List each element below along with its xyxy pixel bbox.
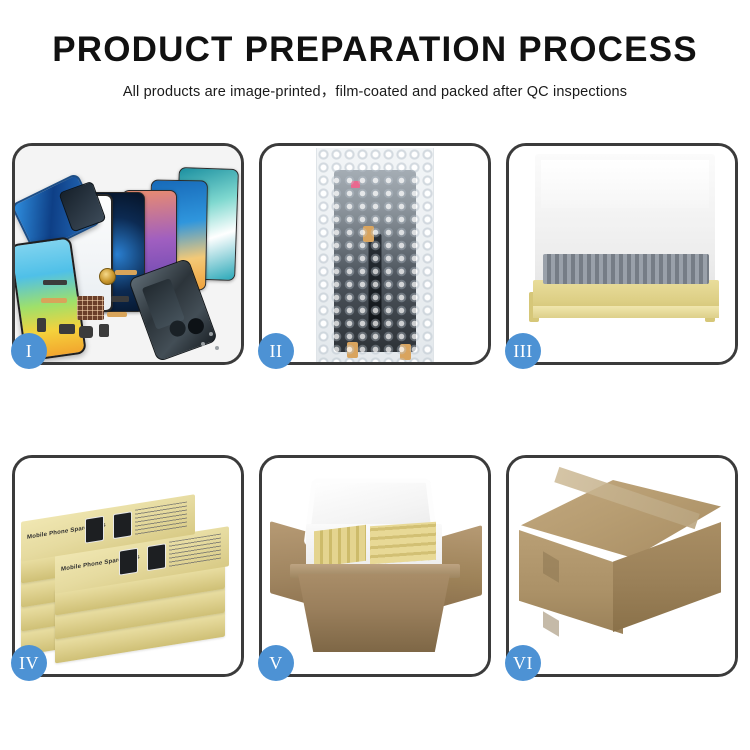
process-step-4: Mobile Phone Spare Parts Mobile Phone Sp… (12, 455, 244, 677)
panel-bubble-wrapped-lcd (262, 146, 488, 362)
box-screen-print-b (147, 543, 166, 571)
part-strip-a (43, 280, 67, 285)
page-header: PRODUCT PREPARATION PROCESS All products… (0, 0, 750, 101)
panel-sealed-carton (509, 458, 735, 674)
lcd-connector-tab-c (400, 344, 411, 360)
lcd-connector-tab-b (347, 342, 358, 358)
panel-open-inner-box (509, 146, 735, 362)
step-badge-3: III (505, 333, 541, 369)
flex-cable-b (115, 270, 137, 275)
step-badge-2: II (258, 333, 294, 369)
product-preparation-page: PRODUCT PREPARATION PROCESS All products… (0, 0, 750, 750)
part-strip-c (37, 318, 46, 332)
screw-c (215, 346, 219, 350)
step-badge-4: IV (11, 645, 47, 681)
process-step-3: III (506, 143, 738, 365)
process-step-1: I (12, 143, 244, 365)
yellow-box-front-wall (533, 306, 719, 318)
process-step-grid: I II (12, 143, 738, 713)
bubble-wrap-bag (316, 148, 434, 362)
ic-chip-icon (77, 296, 104, 320)
part-strip-f (111, 296, 129, 302)
process-step-5: V (259, 455, 491, 677)
step-badge-6: VI (505, 645, 541, 681)
lcd-flex-cable (369, 234, 382, 330)
page-title: PRODUCT PREPARATION PROCESS (0, 32, 750, 69)
screw-b (209, 332, 213, 336)
part-strip-e (99, 324, 109, 337)
flex-cable-c (107, 312, 127, 317)
box-screen-print-a (119, 548, 138, 576)
box-spec-lines-upper (135, 501, 187, 535)
yellow-boxes-group-right (370, 522, 436, 565)
part-strip-b (59, 324, 75, 334)
carton-body (298, 574, 450, 652)
pink-label-sticker (351, 181, 360, 188)
box-stack: Mobile Phone Spare Parts Mobile Phone Sp… (21, 484, 239, 662)
page-subtitle: All products are image-printed，film-coat… (0, 80, 750, 101)
step-badge-5: V (258, 645, 294, 681)
yellow-boxes-group-left (314, 525, 366, 567)
step-badge-1: I (11, 333, 47, 369)
box-spec-lines-lower (169, 533, 221, 567)
panel-stacked-boxes: Mobile Phone Spare Parts Mobile Phone Sp… (15, 458, 241, 674)
panel-phones-and-parts (15, 146, 241, 362)
box-screen-print-d (113, 511, 132, 539)
part-strip-d (79, 326, 93, 338)
panel-foam-carton (262, 458, 488, 674)
tape-tab-lower (543, 611, 559, 637)
vibration-motor-icon (99, 268, 116, 285)
lcd-connector-tab-a (363, 226, 374, 242)
process-step-2: II (259, 143, 491, 365)
box-screen-print-c (85, 516, 104, 544)
bubble-wrapped-contents (543, 254, 709, 284)
flex-cable-a (41, 298, 67, 303)
process-step-6: VI (506, 455, 738, 677)
screw-a (201, 342, 205, 346)
